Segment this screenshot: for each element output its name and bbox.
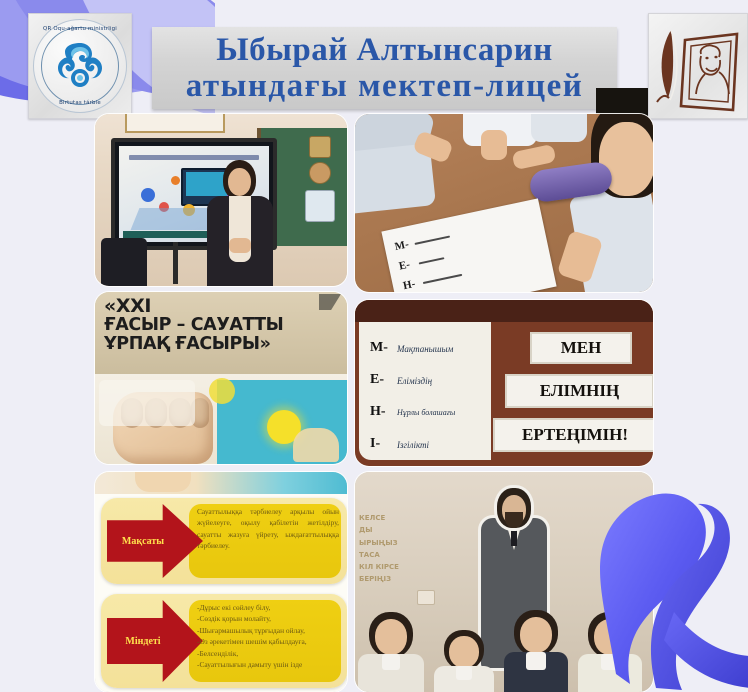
student-4 [577,612,643,692]
task-item: -Сөздік қорын молайту, [197,613,339,624]
school-emblem [648,13,748,119]
acrostic-sheet: М- Мақтанышым Е- Еліміздің Н- Нұрлы бола… [359,322,491,460]
task-item: -Дұрыс екі сөйлеу білу, [197,602,339,613]
acrostic-word-i: Ізгілікті [397,440,429,450]
goal-label: Мақсаты [117,536,169,547]
logo-bottom-text: Birtutas tárbie [34,100,126,106]
acrostic-card-ertenimin: ЕРТЕҢІМІН! [493,418,653,452]
task-item: -Өз әрекетімен шешім қабылдауға, [197,636,339,647]
literacy-banner-text: «XXI ҒАСЫР – САУАТТЫ ҰРПАҚ ҒАСЫРЫ» [104,296,341,353]
wall-socket [417,590,435,605]
wall-text-line: КІЛ КІРСЕ [359,561,443,573]
flag-sun-secondary-icon [209,378,235,404]
ministry-logo: QR Oqu-ağartu ministrligi Birtutas tárbi… [28,13,132,119]
tasks-list: -Дұрыс екі сөйлеу білу, -Сөздік қорын мо… [197,602,339,682]
photo-collage-grid: М- Е- Н- І- «XXI ҒАСЫР – САУАТТЫ ҰРПАҚ Ғ… [95,114,653,692]
task-item: -Шығармашылық тұрғыдан ойлау, [197,625,339,636]
chair [101,238,147,286]
acrostic-letter-n: Н- [370,404,386,420]
slide-title-banner: Ыбырай Алтынсарин атындағы мектеп-лицей [152,27,617,109]
acrostic-word-m: Мақтанышым [397,344,453,354]
panel-acrostic-wall: М- Мақтанышым Е- Еліміздің Н- Нұрлы бола… [355,300,653,466]
task-item: -Белсенділік, [197,648,339,659]
panel-students-at-desk: М- Е- Н- І- [355,114,653,292]
presentation-slide: QR Oqu-ağartu ministrligi Birtutas tárbi… [0,0,748,692]
banner-line2: ҒАСЫР – САУАТТЫ [104,316,341,335]
panel-classroom-presentation [95,114,347,286]
acrostic-card-men: МЕН [530,332,632,364]
student-3 [503,610,569,692]
acrostic-word-n: Нұрлы болашағы [397,408,455,417]
student-1 [357,612,425,692]
logo-top-text: QR Oqu-ağartu ministrligi [34,26,126,32]
tasks-card: Міндеті -Дұрыс екі сөйлеу білу, -Сөздік … [101,594,347,688]
wall-text-line: ЫРЫҢЫЗ [359,537,443,549]
task-item: -Сауаттылығын дамыту үшін ізде [197,659,339,670]
banner-line1: «XXI [104,296,341,316]
wall-text-line: ДЫ [359,524,443,536]
banner-line3: ҰРПАҚ ҒАСЫРЫ» [104,335,341,354]
acrostic-card-elimnin: ЕЛІМНІҢ [505,374,653,408]
slide-title-line2: атындағы мектеп-лицей [186,70,584,103]
wall-text-line: БЕРІҢІЗ [359,573,443,585]
acrostic-letter-i: І- [370,436,380,452]
student-2 [433,630,495,692]
goal-text: Сауаттылыққа тәрбиелеу арқылы ойын жүйел… [197,506,339,578]
wall-picture-frame [125,114,225,133]
wall-text-line: ТАСА [359,549,443,561]
acrostic-letter-m: М- [370,340,388,356]
panel-students-with-cutout: КЕЛСЕ ДЫ ЫРЫҢЫЗ ТАСА КІЛ КІРСЕ БЕРІҢІЗ [355,472,653,692]
wall-text-line: КЕЛСЕ [359,512,443,524]
panel-goal-and-tasks: Мақсаты Сауаттылыққа тәрбиелеу арқылы ой… [95,472,347,692]
logo-ring [41,27,119,105]
wall-text: КЕЛСЕ ДЫ ЫРЫҢЫЗ ТАСА КІЛ КІРСЕ БЕРІҢІЗ [359,512,443,586]
slide-title-line1: Ыбырай Алтынсарин [216,34,553,67]
tasks-label: Міндеті [117,636,169,647]
acrostic-letter-e: Е- [370,372,384,388]
goal-card: Мақсаты Сауаттылыққа тәрбиелеу арқылы ой… [101,498,347,584]
altynsarin-quill-book-icon [649,14,747,118]
acrostic-word-e: Еліміздің [397,376,432,386]
panel-literacy-banner: «XXI ҒАСЫР – САУАТТЫ ҰРПАҚ ҒАСЫРЫ» [95,292,347,464]
